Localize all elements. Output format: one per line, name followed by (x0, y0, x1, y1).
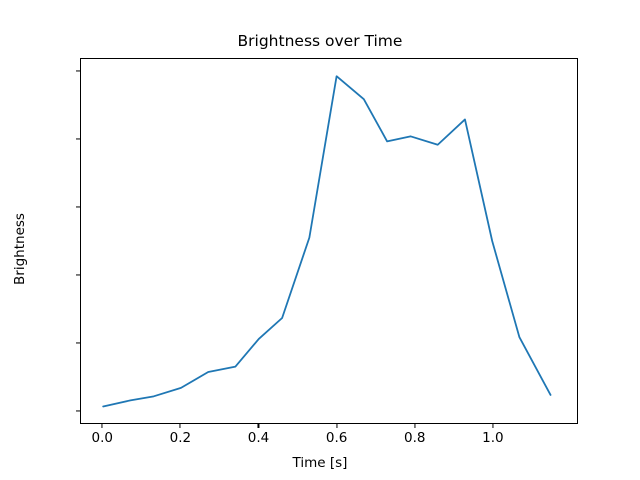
x-tick-mark (102, 424, 103, 428)
x-tick-mark (414, 424, 415, 428)
figure: Brightness over Time 02004006008001000 0… (0, 0, 640, 480)
x-tick-mark (180, 424, 181, 428)
x-tick-label: 0.4 (248, 430, 269, 446)
x-tick-label: 0.0 (92, 430, 113, 446)
x-tick-mark (492, 424, 493, 428)
x-tick-label: 0.2 (170, 430, 191, 446)
y-tick-mark (76, 342, 80, 343)
x-tick-mark (336, 424, 337, 428)
tick-container: 02004006008001000 0.00.20.40.60.81.0 (0, 0, 640, 480)
x-tick-mark (258, 424, 259, 428)
y-tick-mark (76, 274, 80, 275)
y-tick-mark (76, 207, 80, 208)
y-axis-label: Brightness (12, 139, 28, 359)
x-tick-label: 0.6 (326, 430, 347, 446)
y-tick-mark (76, 139, 80, 140)
y-tick-mark (76, 71, 80, 72)
x-tick-label: 0.8 (404, 430, 425, 446)
x-tick-label: 1.0 (482, 430, 503, 446)
x-axis-label: Time [s] (0, 455, 640, 471)
y-tick-mark (76, 410, 80, 411)
